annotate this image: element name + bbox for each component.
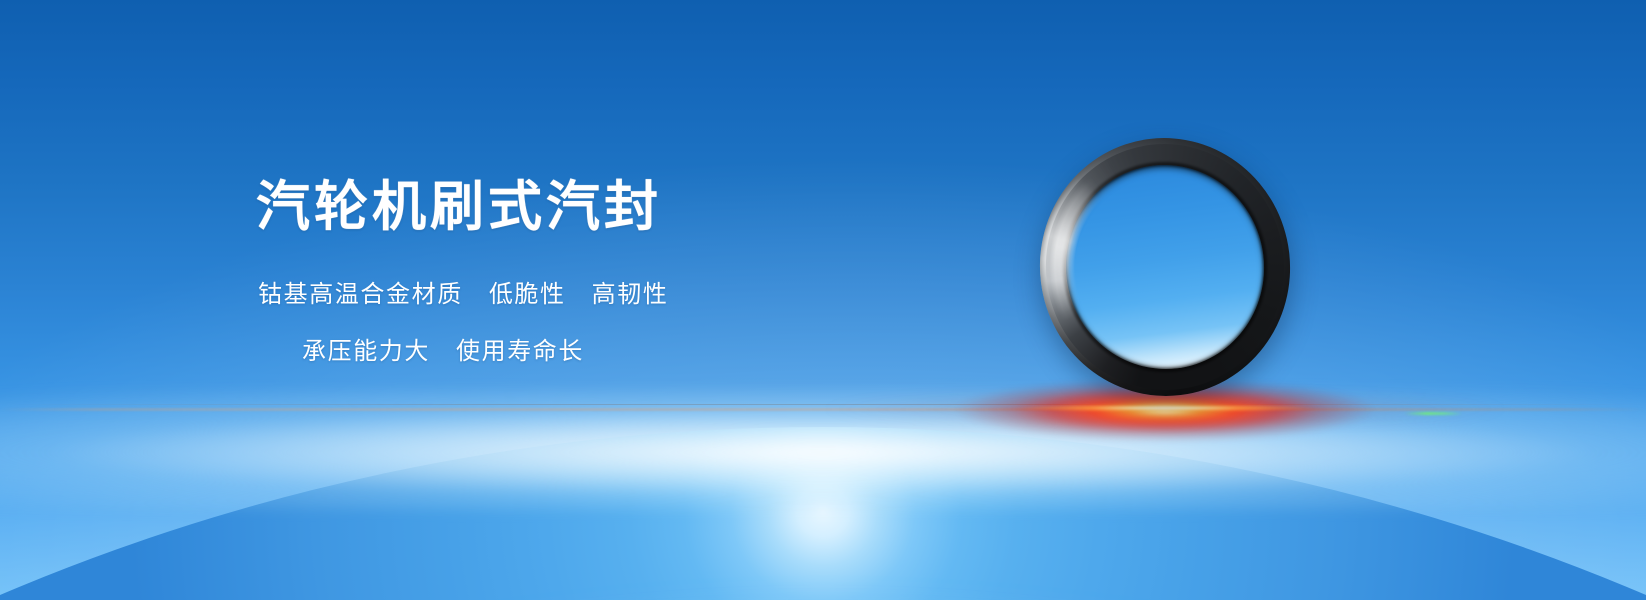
globe-surface — [0, 427, 1646, 600]
continents-layer — [0, 427, 1646, 600]
globe-container — [0, 330, 1646, 600]
hero-banner: 汽轮机刷式汽封 钴基高温合金材质低脆性高韧性 承压能力大使用寿命长 — [0, 0, 1646, 600]
